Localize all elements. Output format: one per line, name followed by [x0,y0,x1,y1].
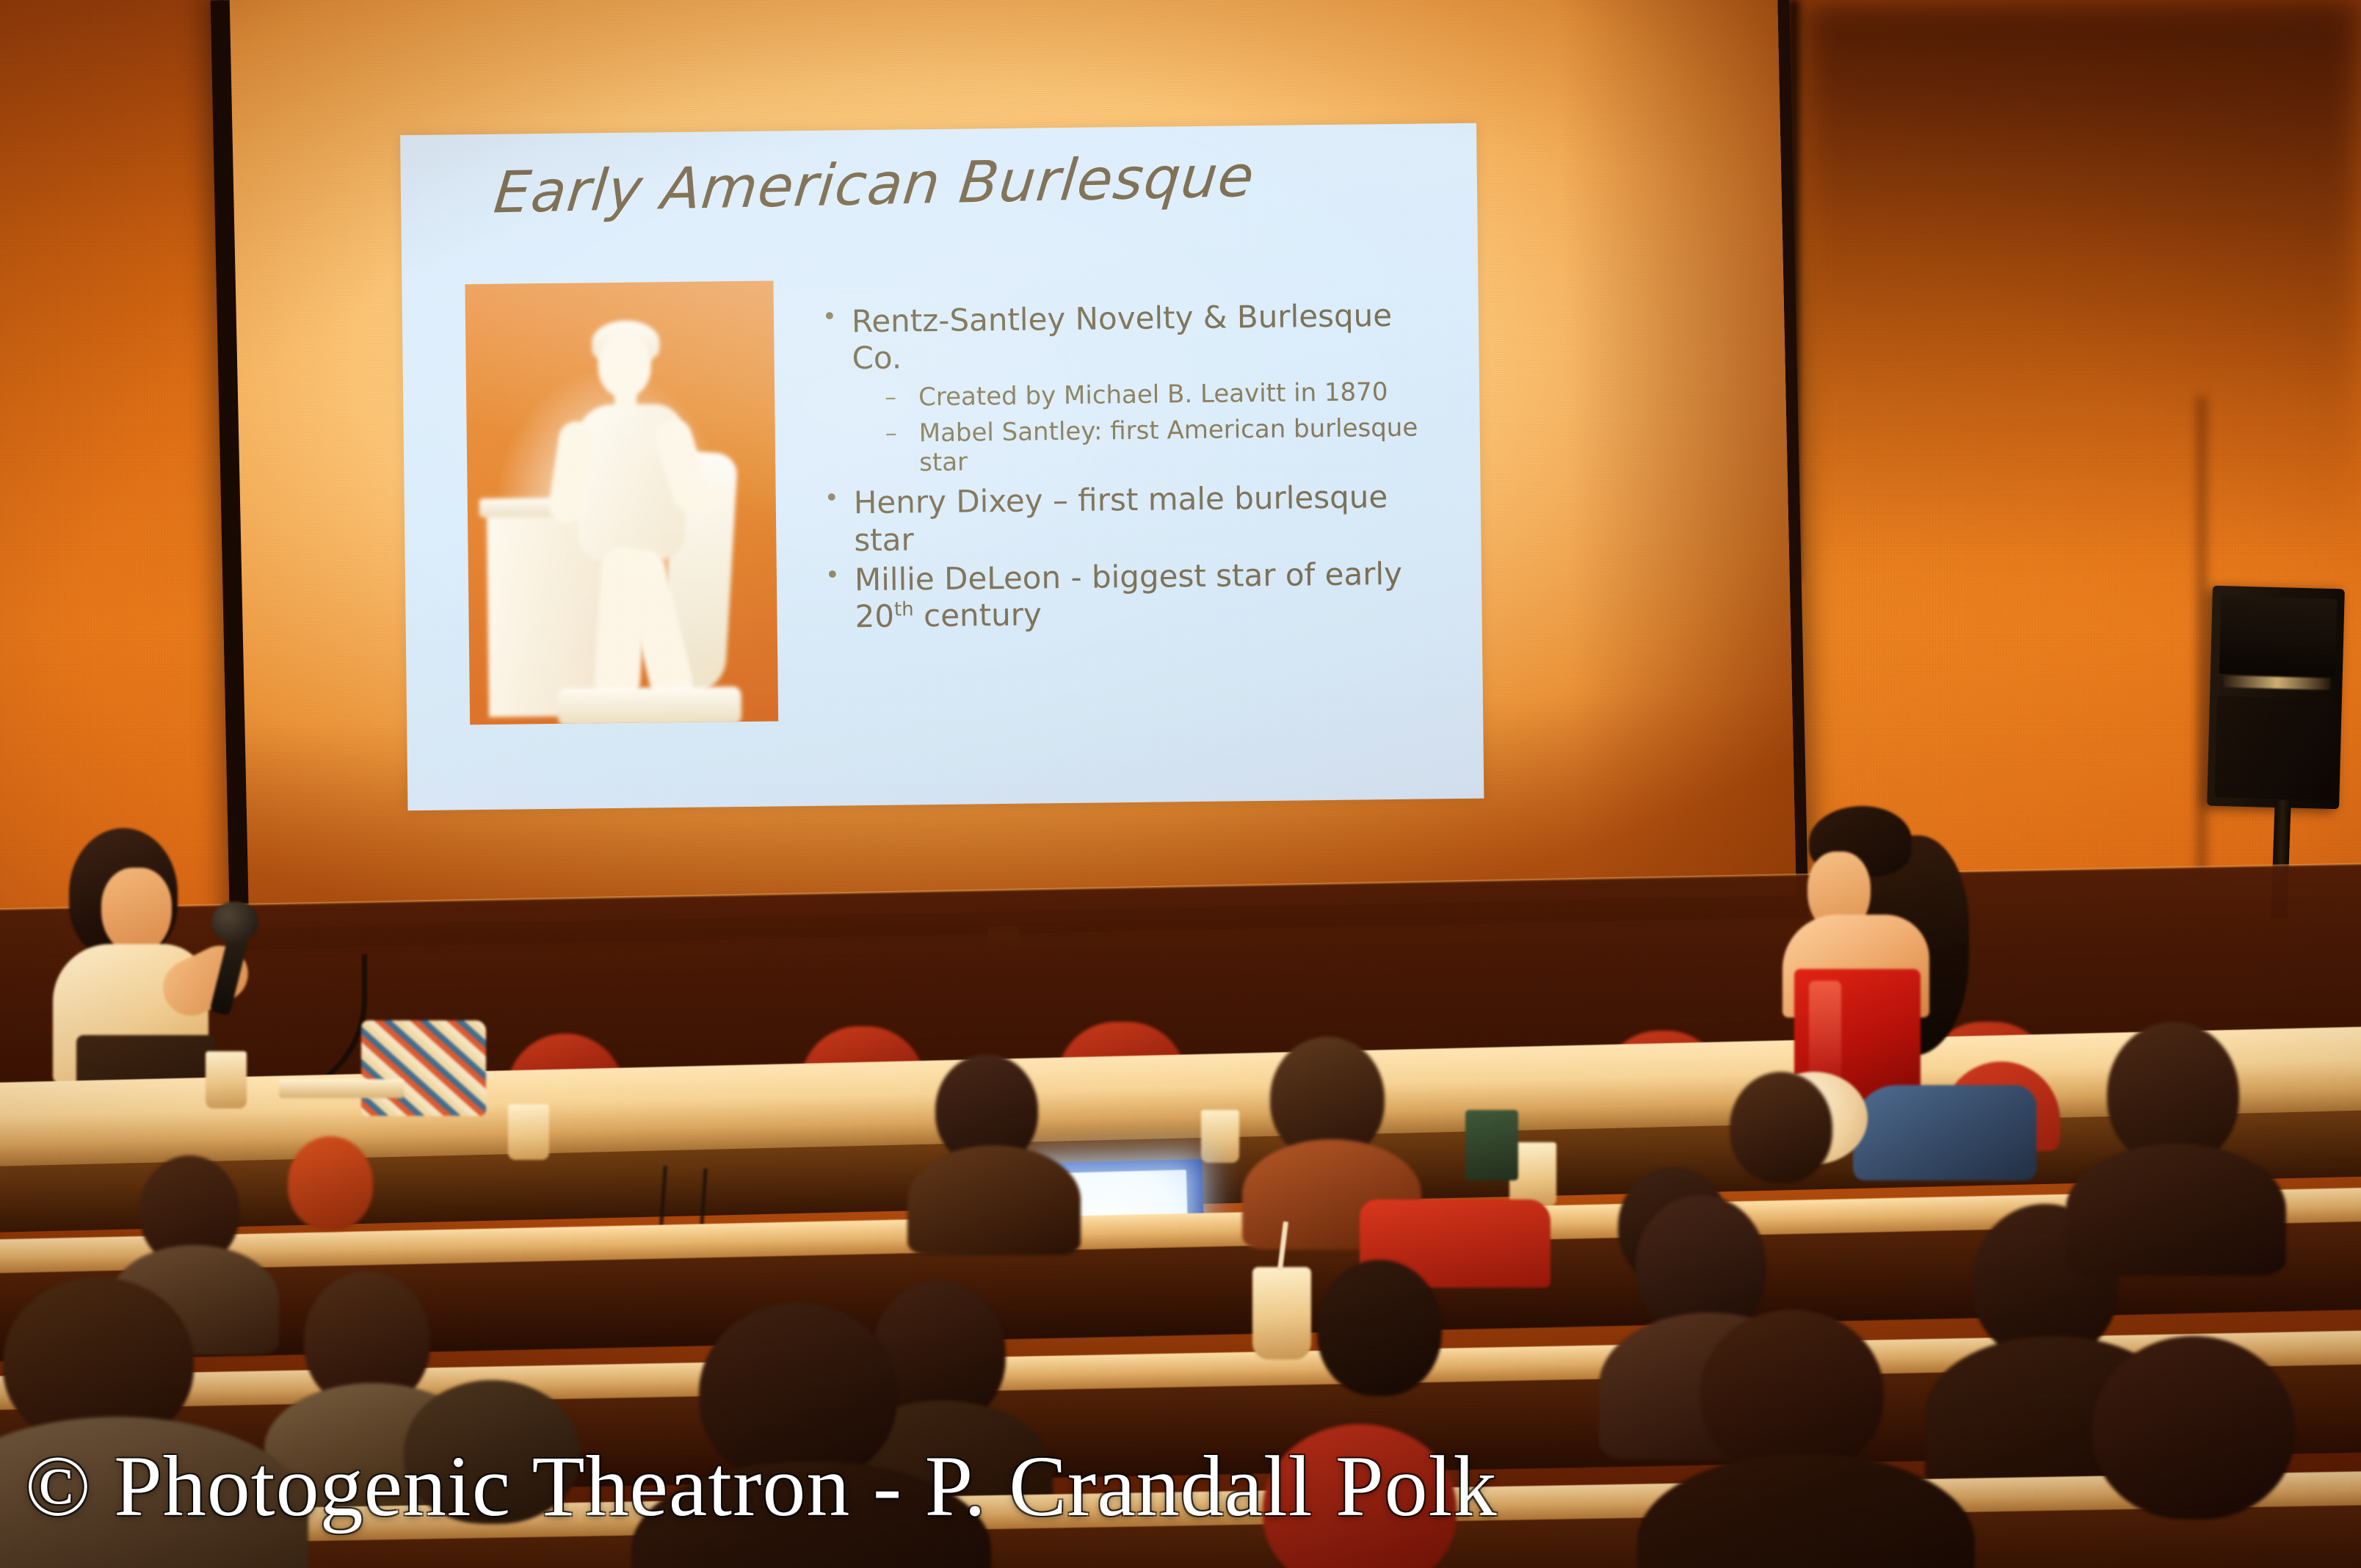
audience-member [272,1136,389,1261]
bullet-item: Henry Dixey – first male burlesque star [816,478,1448,559]
presentation-slide: Early American Burlesque [400,123,1484,811]
patterned-handbag [361,1020,486,1116]
performer-jeans [1853,1085,2037,1180]
sub-bullet-item: Mabel Santley: first American burlesque … [885,413,1447,479]
paper-cup [508,1104,549,1160]
audience-member [2078,1022,2268,1242]
paper-stack [279,1079,404,1098]
slide-image-fade [465,281,778,725]
audience-head [1700,1310,1884,1476]
projection-screen-surface: Early American Burlesque [224,0,1796,937]
audience-body [2066,1144,2286,1276]
pa-speaker-highlight [2223,675,2330,690]
pa-speaker-grille [2219,596,2338,677]
presenter-face [101,868,172,954]
microphone-icon [211,901,258,943]
green-thermos [1465,1110,1518,1180]
pa-speaker-body [2214,696,2335,800]
audience-head [2092,1336,2295,1520]
drink-cup [1252,1267,1311,1360]
wall-corner-seam-secondary [2195,396,2208,881]
bullet-text-after: century [913,597,1042,634]
audience-head [1730,1072,1832,1183]
slide-bullet-list: Rentz-Santley Novelty & Burlesque Co. Cr… [813,297,1448,639]
audience-head [1317,1260,1442,1396]
slide-title: Early American Burlesque [491,144,1416,224]
audience-body [1637,1453,1975,1568]
audience-member [1248,1037,1410,1220]
paper-cup [206,1051,247,1108]
audience-member [918,1054,1065,1216]
wall-shadow-right [1802,0,2361,558]
bullet-superscript: th [894,599,914,621]
lecture-hall-photograph: Early American Burlesque [0,0,2361,1568]
audience-member [2041,1336,2361,1568]
audience-member [1659,1310,1938,1568]
projection-screen: Early American Burlesque [211,0,1809,947]
audience-body [907,1145,1081,1255]
bullet-item: Rentz-Santley Novelty & Burlesque Co. [813,297,1446,378]
copyright-watermark: © Photogenic Theatron - P. Crandall Polk [25,1443,1497,1530]
audience-member [1711,1072,1857,1241]
paper-cup [1201,1110,1239,1163]
bullet-item: Millie DeLeon - biggest star of early 20… [816,555,1448,636]
pa-speaker [2207,586,2345,810]
slide-statue-image [465,281,778,725]
audience-head [288,1136,373,1230]
sub-bullet-item: Created by Michael B. Leavitt in 1870 [885,377,1446,413]
